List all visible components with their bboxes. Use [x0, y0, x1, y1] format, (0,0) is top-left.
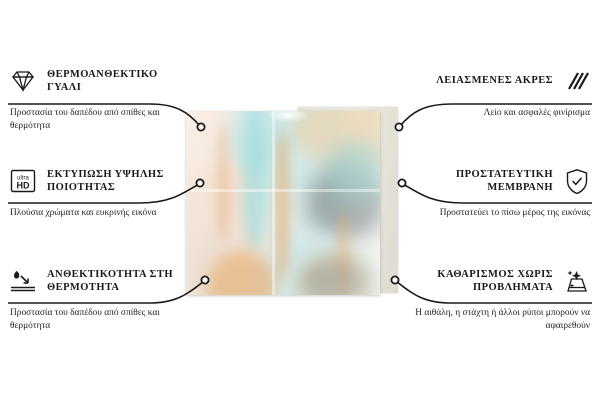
feature-left-1-body: Προστασία του δαπέδου από σπίθες και θερ…: [8, 107, 194, 134]
feature-left-3-body: Προστασία του δαπέδου από σπίθες και θερ…: [8, 307, 194, 334]
sparkle-clean-icon: [562, 267, 592, 295]
connector-dot-right-2: [398, 179, 405, 186]
feature-right-3-title: ΚΑΘΑΡΙΣΜΟΣ ΧΩΡΙΣ ΠΡΟΒΛΗΜΑΤΑ: [406, 268, 553, 295]
feature-right-1: ΛΕΙΑΣΜΕΝΕΣ ΑΚΡΕΣ Λείο και ασφαλές φινίρι…: [406, 64, 592, 120]
feature-right-3-body: Η αιθάλη, η στάχτη ή άλλοι ρύποι μπορούν…: [406, 307, 592, 334]
feature-left-1-title: ΘΕΡΜΟΑΝΘΕΚΤΙΚΟ ΓΥΑΛΙ: [47, 68, 194, 95]
feature-left-1-header: ΘΕΡΜΟΑΝΘΕΚΤΙΚΟ ΓΥΑΛΙ: [8, 64, 194, 98]
shield-check-icon: [562, 167, 592, 195]
feature-left-2-title: ΕΚΤΥΠΩΣΗ ΥΨΗΛΗΣ ΠΟΙΟΤΗΤΑΣ: [47, 168, 194, 195]
feature-right-1-title: ΛΕΙΑΣΜΕΝΕΣ ΑΚΡΕΣ: [436, 74, 553, 87]
diamond-icon: [8, 67, 38, 95]
feature-left-2-body: Πλούσια χρώματα και ευκρινής εικόνα: [8, 207, 194, 220]
feature-left-3: ΑΝΘΕΚΤΙΚΟΤΗΤΑ ΣΤΗ ΘΕΡΜΟΤΗΤΑ Προστασία το…: [8, 264, 194, 334]
svg-text:HD: HD: [17, 181, 30, 191]
connector-dot-right-1: [395, 123, 402, 130]
connector-dot-right-3: [391, 276, 398, 283]
feature-left-1: ΘΕΡΜΟΑΝΘΕΚΤΙΚΟ ΓΥΑΛΙ Προστασία του δαπέδ…: [8, 64, 194, 134]
feature-right-1-header: ΛΕΙΑΣΜΕΝΕΣ ΑΚΡΕΣ: [406, 64, 592, 98]
flame-heat-resistance-icon: [8, 267, 38, 295]
feature-right-2: ΠΡΟΣΤΑΤΕΥΤΙΚΗ ΜΕΜΒΡΑΝΗ Προστατεύει το πί…: [406, 164, 592, 220]
infographic-canvas: ΘΕΡΜΟΑΝΘΕΚΤΙΚΟ ΓΥΑΛΙ Προστασία του δαπέδ…: [0, 0, 600, 400]
connector-dot-left-3: [201, 276, 208, 283]
feature-right-2-title: ΠΡΟΣΤΑΤΕΥΤΙΚΗ ΜΕΜΒΡΑΝΗ: [406, 168, 553, 195]
feature-left-2-header: ultra HD ΕΚΤΥΠΩΣΗ ΥΨΗΛΗΣ ΠΟΙΟΤΗΤΑΣ: [8, 164, 194, 198]
feature-right-2-body: Προστατεύει το πίσω μέρος της εικόνας: [406, 207, 592, 220]
feature-right-2-header: ΠΡΟΣΤΑΤΕΥΤΙΚΗ ΜΕΜΒΡΑΝΗ: [406, 164, 592, 198]
feature-left-3-title: ΑΝΘΕΚΤΙΚΟΤΗΤΑ ΣΤΗ ΘΕΡΜΟΤΗΤΑ: [47, 268, 194, 295]
feature-left-3-header: ΑΝΘΕΚΤΙΚΟΤΗΤΑ ΣΤΗ ΘΕΡΜΟΤΗΤΑ: [8, 264, 194, 298]
connector-dot-left-1: [197, 123, 204, 130]
feature-left-2: ultra HD ΕΚΤΥΠΩΣΗ ΥΨΗΛΗΣ ΠΟΙΟΤΗΤΑΣ Πλούσ…: [8, 164, 194, 220]
ultra-hd-icon: ultra HD: [8, 167, 38, 195]
feature-right-3: ΚΑΘΑΡΙΣΜΟΣ ΧΩΡΙΣ ΠΡΟΒΛΗΜΑΤΑ Η αιθάλη, η …: [406, 264, 592, 334]
feature-right-1-body: Λείο και ασφαλές φινίρισμα: [406, 107, 592, 120]
feature-right-3-header: ΚΑΘΑΡΙΣΜΟΣ ΧΩΡΙΣ ΠΡΟΒΛΗΜΑΤΑ: [406, 264, 592, 298]
connector-dot-left-2: [196, 179, 203, 186]
polished-edges-icon: [562, 67, 592, 95]
